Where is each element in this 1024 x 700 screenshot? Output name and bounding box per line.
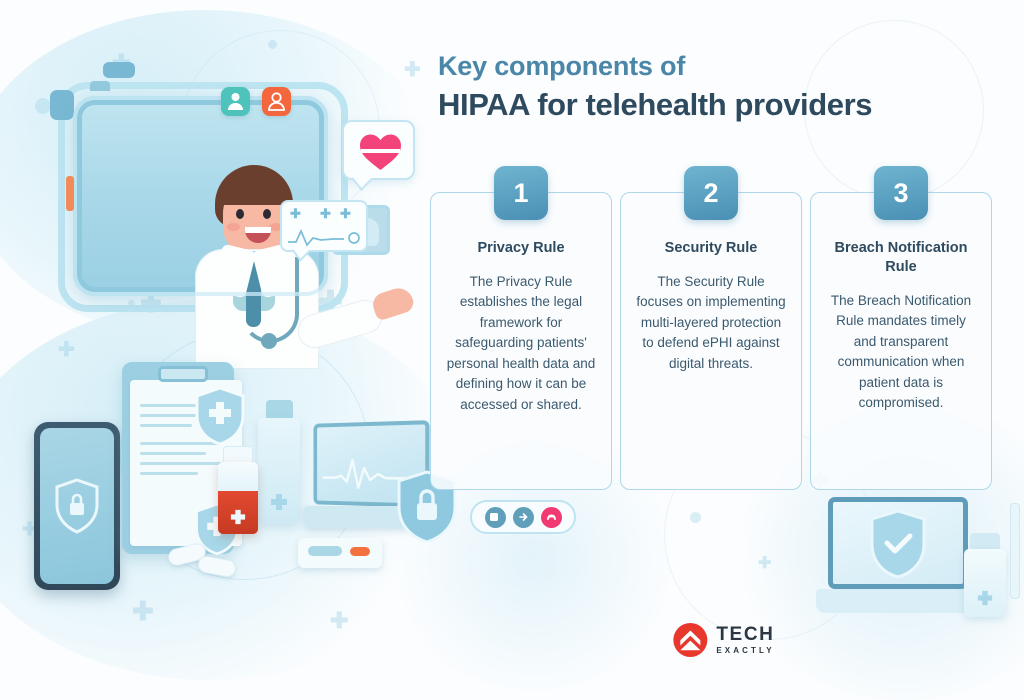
ecg-waveform-icon <box>288 226 364 248</box>
medical-cross-icon: ✚ <box>330 610 348 632</box>
doctor-eye <box>236 209 244 219</box>
heart-speech-bubble <box>342 120 415 180</box>
doctor-avatar <box>177 157 337 367</box>
card-privacy-rule[interactable]: 1 Privacy Rule The Privacy Rule establis… <box>430 192 612 490</box>
card-breach-notification-rule[interactable]: 3 Breach Notification Rule The Breach No… <box>810 192 992 490</box>
card-number-badge: 3 <box>874 166 928 220</box>
patient-app-icon <box>221 87 250 116</box>
medical-cross-icon: ✚ <box>132 598 154 624</box>
pill-tablets <box>168 546 258 576</box>
shield-cross-icon <box>194 386 246 446</box>
card-body-text: The Security Rule focuses on implementin… <box>634 272 788 375</box>
stethoscope-bell <box>261 333 277 349</box>
doctor-fringe <box>217 175 291 205</box>
medicine-bottle-cap <box>266 400 293 420</box>
doctor-eyebrow <box>233 201 247 204</box>
medical-device <box>298 538 382 568</box>
doctor-blush <box>227 223 240 231</box>
card-body-text: The Privacy Rule establishes the legal f… <box>444 272 598 416</box>
logo-wordmark: TECH EXACTLY <box>716 625 774 655</box>
frame-tab <box>50 90 74 120</box>
doctor-app-icon <box>262 87 291 116</box>
card-security-rule[interactable]: 2 Security Rule The Security Rule focuse… <box>620 192 802 490</box>
card-number-badge: 1 <box>494 166 548 220</box>
main-content: Key components of HIPAA for telehealth p… <box>424 0 1024 683</box>
medical-cross-icon <box>270 492 288 512</box>
doctor-hand <box>370 284 416 321</box>
medicine-bottle <box>258 418 300 524</box>
video-call-screen <box>73 96 328 296</box>
logo-name-bottom: EXACTLY <box>716 647 774 655</box>
webcam-icon <box>103 62 135 78</box>
logo-name-top: TECH <box>716 625 774 644</box>
page-title: Key components of HIPAA for telehealth p… <box>438 50 1008 125</box>
logo-mark-icon <box>673 623 707 657</box>
component-cards-list: 1 Privacy Rule The Privacy Rule establis… <box>430 192 1014 490</box>
brand-logo: TECH EXACTLY <box>673 623 774 657</box>
phone-screen <box>40 428 114 584</box>
lock-shield-icon <box>54 478 100 534</box>
heart-icon <box>359 133 402 171</box>
medical-cross-icon: ✚ <box>320 206 331 222</box>
screen-accent-tab <box>66 176 74 211</box>
stethoscope <box>241 257 299 343</box>
card-title: Privacy Rule <box>444 239 598 258</box>
webcam-stand <box>90 81 110 91</box>
medical-cross-icon: ✚ <box>290 206 301 222</box>
title-line-1: Key components of <box>438 50 1008 84</box>
medical-cross-icon <box>230 508 246 526</box>
medical-cross-icon: ✚ <box>340 206 351 222</box>
clipboard-clamp <box>158 366 208 382</box>
healthcare-devices-illustration <box>18 350 438 600</box>
card-number-badge: 2 <box>684 166 738 220</box>
ecg-speech-bubble: ✚ ✚ ✚ <box>280 200 368 252</box>
card-title: Security Rule <box>634 239 788 258</box>
card-body-text: The Breach Notification Rule mandates ti… <box>824 291 978 414</box>
card-title: Breach Notification Rule <box>824 239 978 277</box>
doctor-eyebrow <box>260 201 274 204</box>
doctor-eye <box>263 209 271 219</box>
title-line-2: HIPAA for telehealth providers <box>438 86 1008 125</box>
pill-bottle <box>218 462 258 534</box>
telehealth-doctor-illustration: ✚ ✚ ✚ <box>28 38 418 313</box>
smartphone-with-lock-shield <box>34 422 120 590</box>
